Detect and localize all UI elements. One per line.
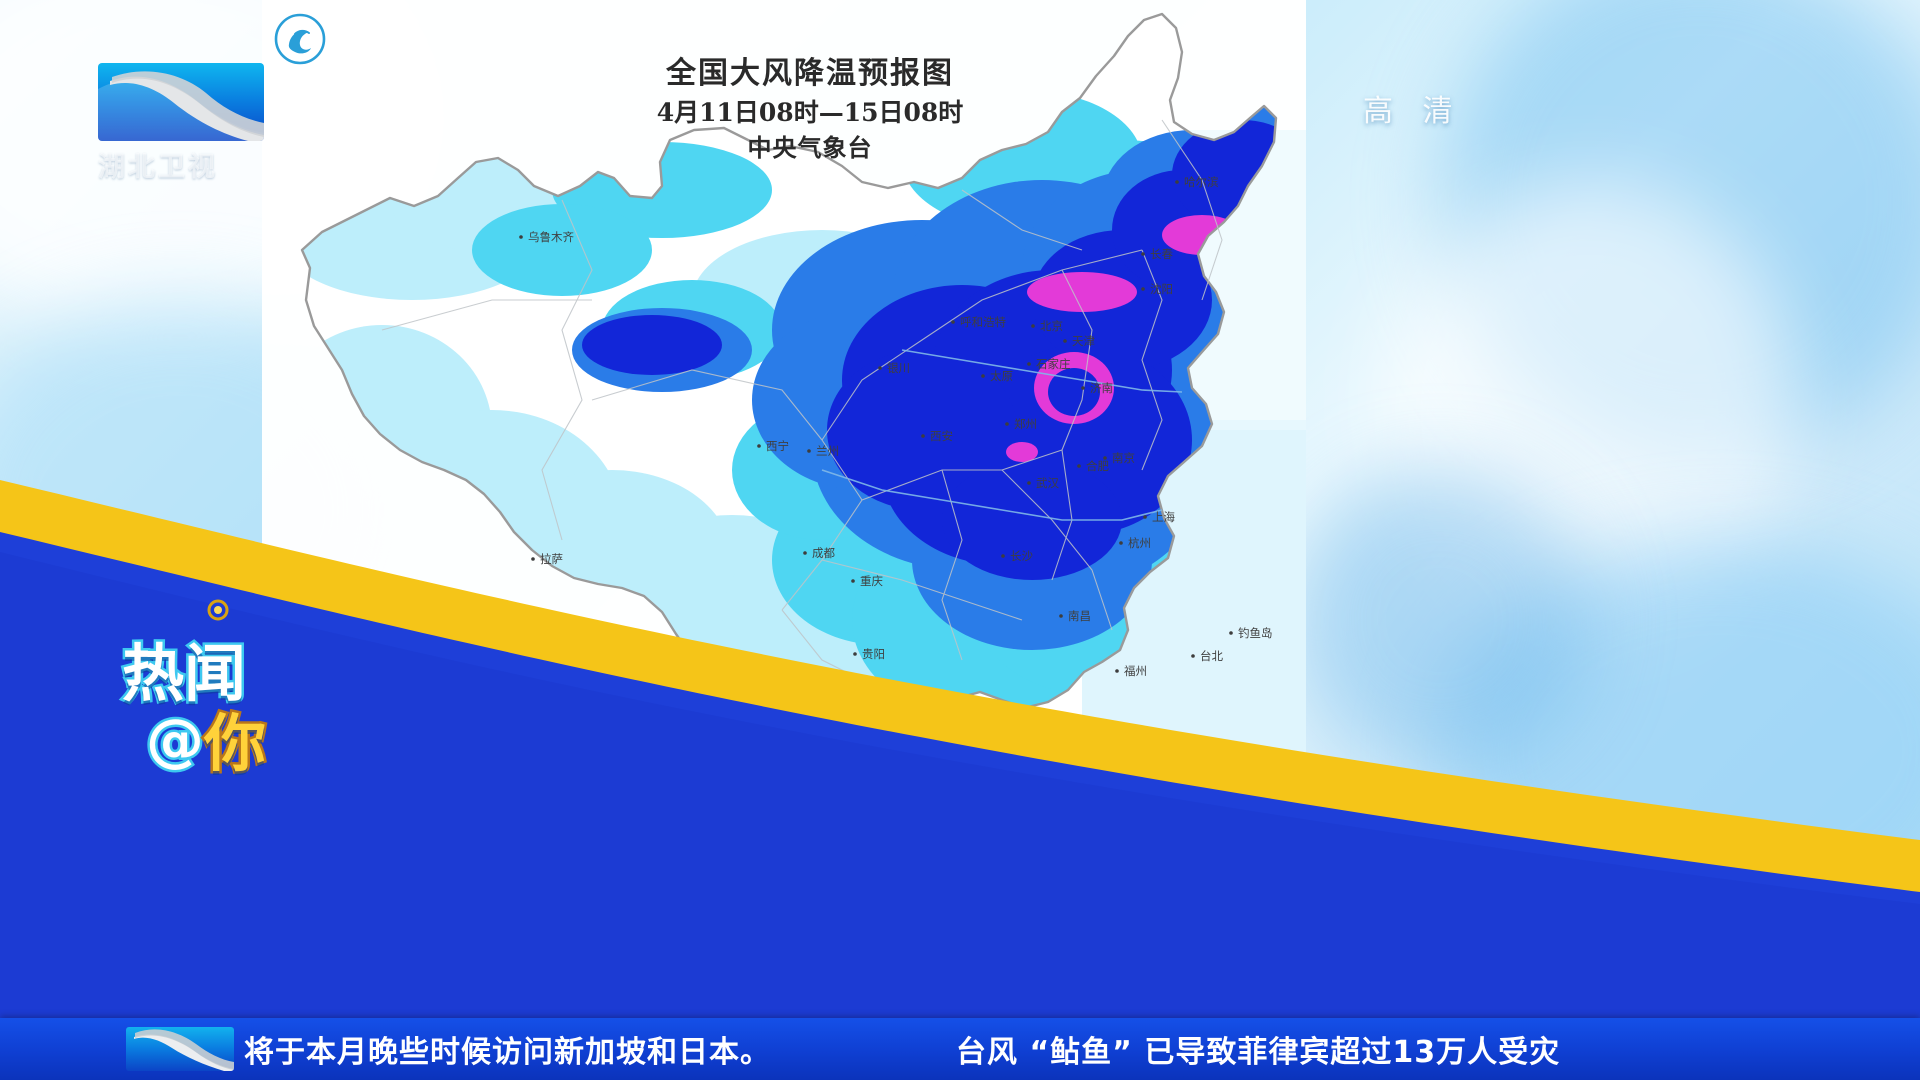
city-marker-dot [519,235,523,239]
city-marker-dot [1141,252,1145,256]
city-label: 北京 [1040,319,1063,333]
city-marker-dot [1001,554,1005,558]
news-ticker-bar: 将于本月晚些时候访问新加坡和日本。 台风 “鲇鱼” 已导致菲律宾超过13万人受灾 [0,1018,1920,1080]
city-marker-dot [1063,339,1067,343]
city-marker-dot [969,746,973,750]
program-logo: 热闻 @ 你 [118,645,358,820]
city-marker-dot [807,449,811,453]
city-label: 武汉 [1036,476,1059,490]
city-label: 西宁 [766,439,789,453]
city-marker-dot [1027,362,1031,366]
city-label: 成都 [812,546,835,560]
city-label: 天津 [1072,334,1095,348]
city-marker-dot [951,320,955,324]
ticker-channel-logo-icon [126,1027,234,1071]
city-marker-dot [1229,631,1233,635]
city-label: 杭州 [1128,536,1151,550]
city-marker-dot [773,684,777,688]
city-label: 三沙 [1060,795,1083,800]
city-label: 澳门 [968,764,991,778]
city-marker-dot [1031,324,1035,328]
city-marker-dot [997,769,1001,773]
map-date-range: 4月11日08时—15日08时 [630,96,990,130]
ticker-segment-2: 台风 “鲇鱼” 已导致菲律宾超过13万人受灾 [956,1027,1560,1071]
city-marker-dot [757,444,761,448]
city-label: 兰州 [816,444,839,458]
city-marker-dot [1059,614,1063,618]
city-label: 济南 [1090,381,1113,395]
map-source: 中央气象台 [630,132,990,164]
background-glow-7 [1290,470,1590,770]
background-glow-5 [1440,540,1920,960]
city-marker-dot [1027,481,1031,485]
city-label: 贵阳 [862,647,885,661]
map-title-block: 全国大风降温预报图 4月11日08时—15日08时 中央气象台 [630,55,990,165]
city-label: 沈阳 [1150,282,1173,296]
city-label: 福州 [1124,664,1147,678]
city-label: 上海 [1152,510,1175,524]
city-label: 长春 [1150,247,1173,261]
city-marker-dot [981,374,985,378]
city-marker-dot [1143,515,1147,519]
city-marker-dot [1081,386,1085,390]
city-marker-dot [1141,287,1145,291]
city-marker-dot [921,434,925,438]
city-marker-dot [1077,464,1081,468]
city-marker-dot [851,579,855,583]
program-logo-at-symbol: @ [146,706,204,774]
city-marker-dot [803,551,807,555]
city-label: 南京 [1112,451,1135,465]
city-label: 拉萨 [540,552,563,566]
city-marker-dot [1005,422,1009,426]
city-label: 西安 [930,429,953,443]
city-label: 海口 [930,792,953,800]
broadcast-screen: 乌鲁木齐哈尔滨长春沈阳北京天津呼和浩特银川太原石家庄济南西宁兰州西安郑州合肥南京… [0,0,1920,1080]
city-label: 呼和浩特 [960,315,1006,329]
city-marker-dot [959,769,963,773]
program-logo-text-2: 你 [204,715,266,774]
hubei-satellite-tv-logo-icon [98,63,264,141]
city-label: 乌鲁木齐 [528,230,574,244]
city-label: 南昌 [1068,609,1091,623]
channel-logo: 湖北卫视 [98,63,268,173]
city-marker-dot [1175,180,1179,184]
city-label: 台北 [1200,649,1223,663]
cma-logo-icon [273,12,327,66]
city-marker-dot [889,766,893,770]
hd-watermark: 高 清 [1363,86,1463,130]
city-label: 哈尔滨 [1184,175,1219,189]
city-marker-dot [878,366,882,370]
city-label: 钓鱼岛 [1238,626,1273,640]
program-logo-text-1: 热闻 [122,645,246,704]
city-marker-dot [531,557,535,561]
city-label: 重庆 [860,574,883,588]
city-label: 昆明 [782,679,805,693]
city-marker-dot [853,652,857,656]
city-label: 石家庄 [1036,357,1071,371]
city-marker-dot [1191,654,1195,658]
channel-name-label: 湖北卫视 [98,145,268,184]
city-label: 南宁 [898,761,921,775]
city-label: 长沙 [1010,549,1033,563]
city-label: 香港 [1006,764,1029,778]
map-title: 全国大风降温预报图 [630,55,990,93]
city-marker-dot [1115,669,1119,673]
city-label: 广州 [978,741,1001,755]
background-glow-2 [1440,0,1920,460]
city-marker-dot [1119,541,1123,545]
city-label: 太原 [990,369,1013,383]
ticker-segment-1: 将于本月晚些时候访问新加坡和日本。 [244,1027,771,1071]
city-label: 郑州 [1014,417,1037,431]
background-glow-3 [1380,180,1800,640]
ticker-text: 将于本月晚些时候访问新加坡和日本。 台风 “鲇鱼” 已导致菲律宾超过13万人受灾 [244,1027,1920,1071]
city-label: 合肥 [1086,459,1109,473]
city-marker-dot [1103,456,1107,460]
city-label: 银川 [887,361,910,375]
